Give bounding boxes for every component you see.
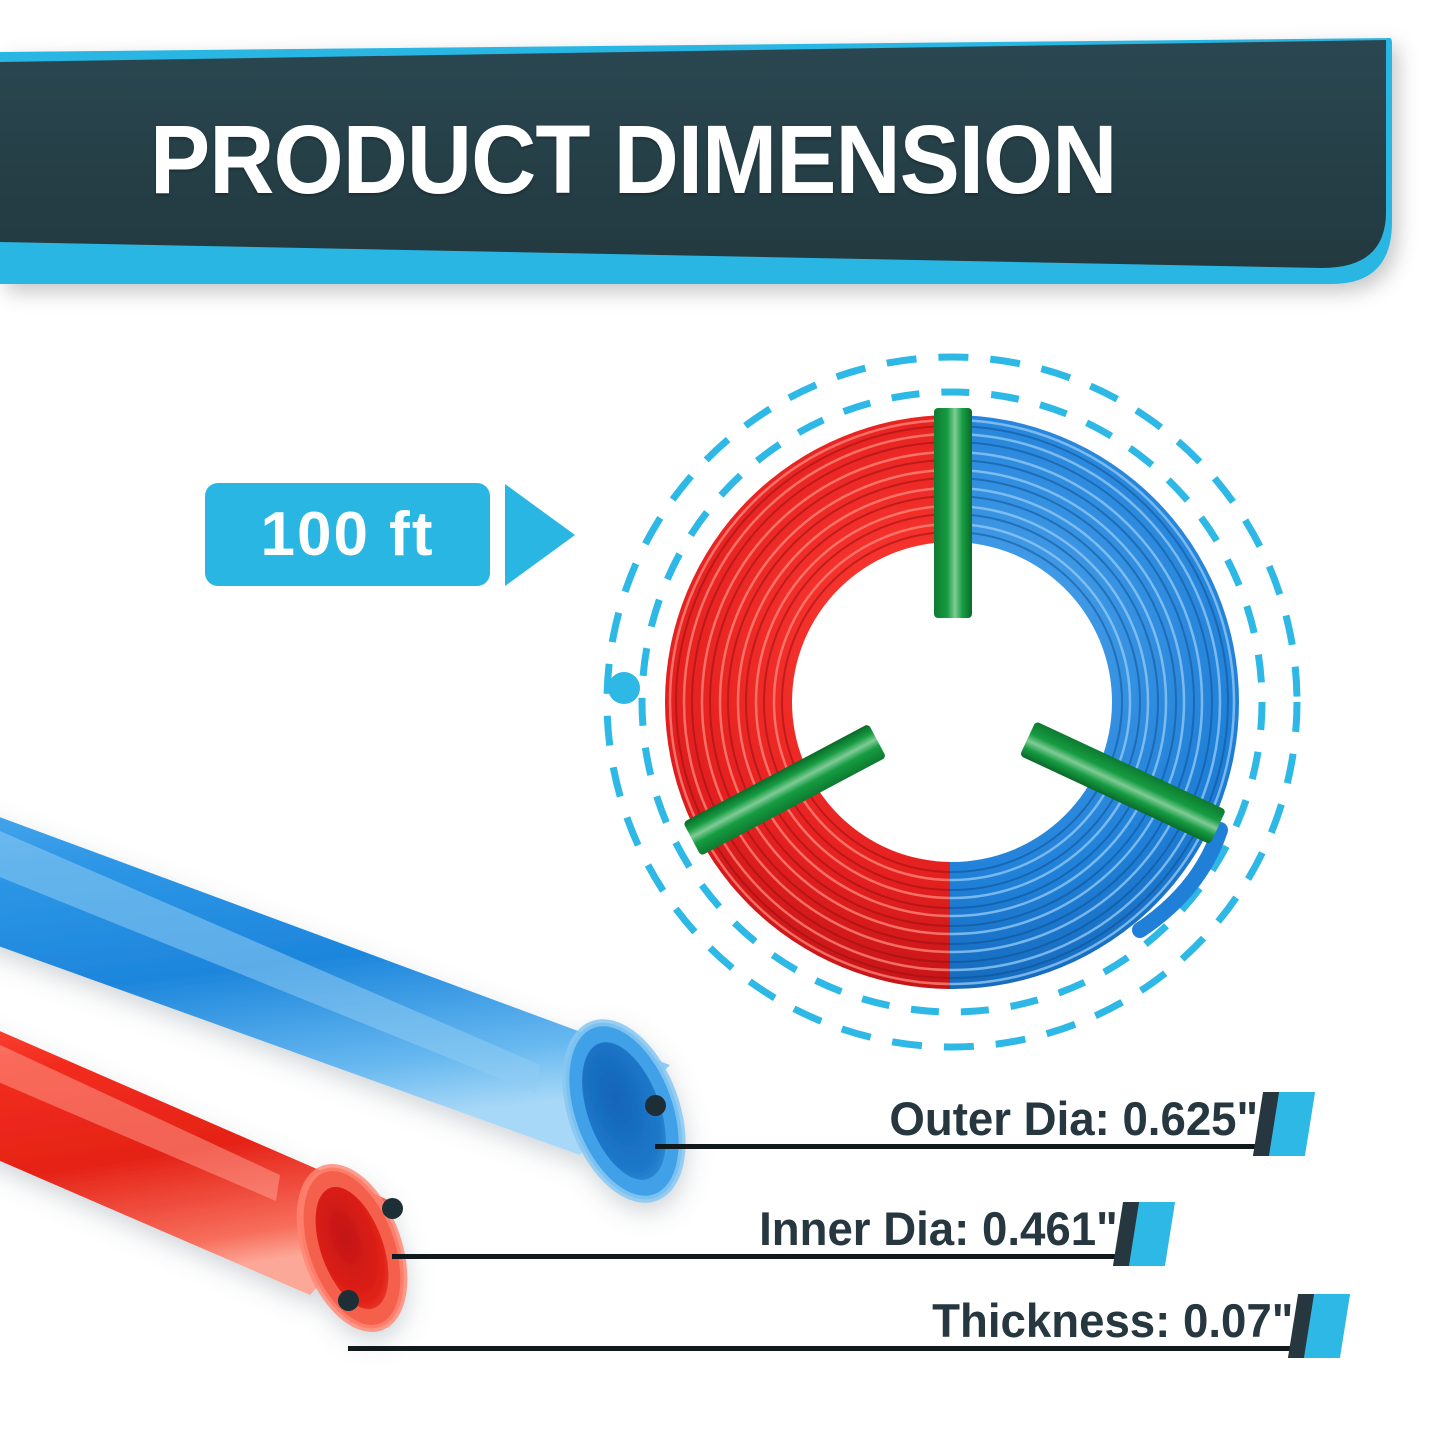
ring-dot-outer [608,672,640,704]
callout-outer-dia-leader-line [655,1144,1262,1149]
header-banner: PRODUCT DIMENSION [0,0,1445,330]
coil-tie-top [934,408,972,618]
callout-outer-dia-label: Outer Dia: 0.625" [889,1095,1258,1142]
triangle-right-icon [505,484,575,586]
length-badge-label: 100 ft [261,504,435,566]
leader-dot-thickness [338,1290,359,1311]
leader-dot-inner-dia [382,1198,403,1219]
callout-thickness-leader-line [348,1346,1297,1351]
infographic-canvas: PRODUCT DIMENSION 100 ft [0,0,1445,1445]
callout-thickness: Thickness: 0.07" [348,1248,1345,1358]
leader-dot-outer-dia [645,1095,666,1116]
callout-outer-dia: Outer Dia: 0.625" [655,1046,1310,1156]
callout-outer-dia-marker [1258,1092,1310,1156]
callout-thickness-marker [1293,1294,1345,1358]
callout-inner-dia-label: Inner Dia: 0.461" [759,1205,1118,1252]
callout-thickness-label: Thickness: 0.07" [932,1297,1293,1344]
page-title: PRODUCT DIMENSION [150,112,1117,207]
length-badge: 100 ft [205,483,490,586]
